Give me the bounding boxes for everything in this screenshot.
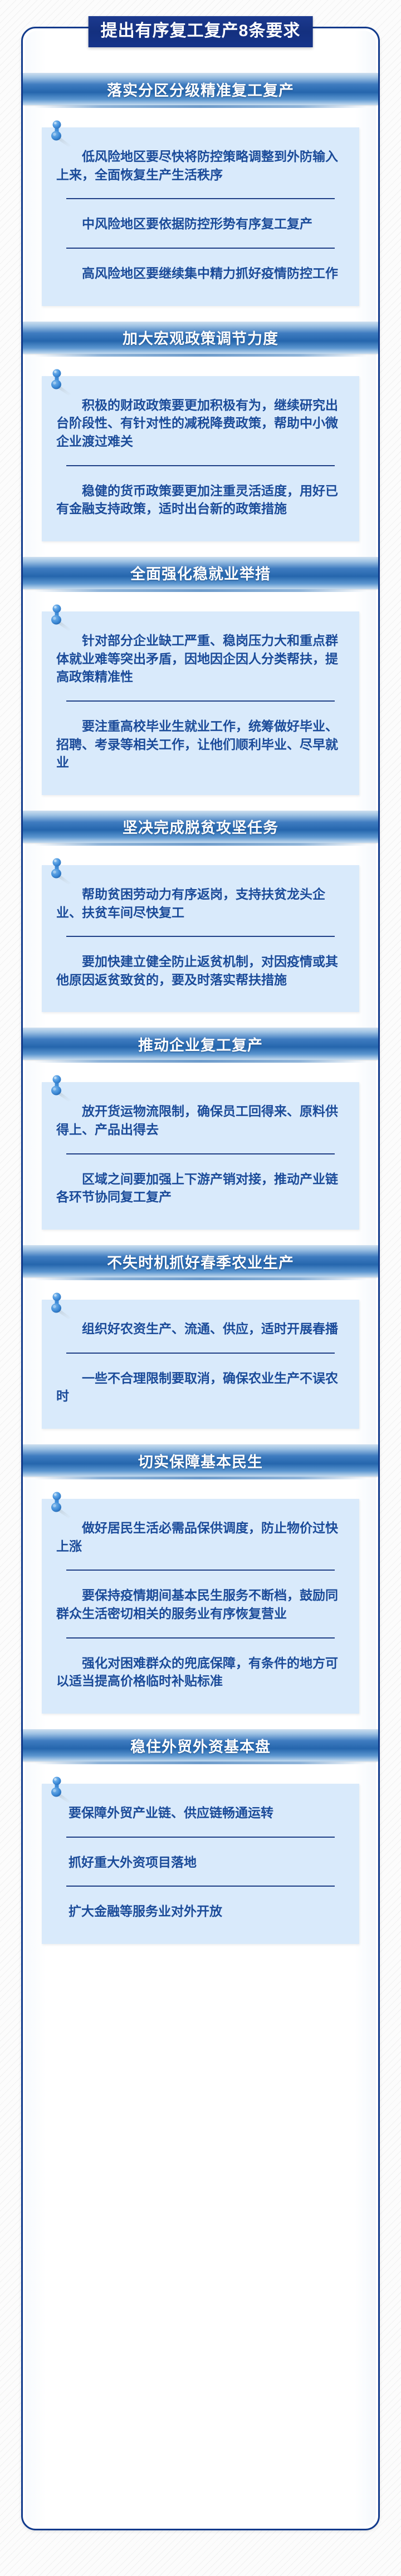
section-heading-text: 坚决完成脱贫攻坚任务 (123, 816, 278, 837)
list-item: 要加快建立健全防止返贫机制，对因疫情或其他原因返贫致贫的，要及时落实帮扶措施 (54, 949, 347, 993)
list-item: 要保障外贸产业链、供应链畅通运转 (54, 1800, 347, 1834)
section-body: 帮助贫困劳动力有序返岗，支持扶贫龙头企业、扶贫车间尽快复工要加快建立健全防止返贫… (42, 862, 359, 1013)
section-header-4: 坚决完成脱贫攻坚任务 (23, 811, 378, 843)
content-panel: 积极的财政政策要更加积极有为，继续研究出台阶段性、有针对性的减税降费政策，帮助中… (42, 376, 359, 541)
section-heading-text: 全面强化稳就业举措 (130, 562, 271, 584)
main-card: 提出有序复工复产8条要求 落实分区分级精准复工复产 (21, 27, 380, 2530)
section-header-1: 落实分区分级精准复工复产 (23, 73, 378, 105)
content-panel: 要保障外贸产业链、供应链畅通运转抓好重大外资项目落地扩大金融等服务业对外开放 (42, 1784, 359, 1944)
list-item: 做好居民生活必需品保供调度，防止物价过快上涨 (54, 1516, 347, 1567)
list-item: 中风险地区要依据防控形势有序复工复产 (54, 211, 347, 245)
item-divider (66, 465, 335, 466)
section-body: 放开货运物流限制，确保员工回得来、原料供得上、产品出得去区域之间要加强上下游产销… (42, 1079, 359, 1230)
list-item: 积极的财政政策要更加积极有为，继续研究出台阶段性、有针对性的减税降费政策，帮助中… (54, 393, 347, 463)
content-panel: 组织好农资生产、流通、供应，适时开展春播一些不合理限制要取消，确保农业生产不误农… (42, 1300, 359, 1429)
infographic-page: 提出有序复工复产8条要求 落实分区分级精准复工复产 (0, 0, 401, 2576)
item-divider (66, 1886, 335, 1887)
list-item: 要注重高校毕业生就业工作，统筹做好毕业、招聘、考录等相关工作，让他们顺利毕业、尽… (54, 714, 347, 776)
section-header-6: 不失时机抓好春季农业生产 (23, 1245, 378, 1277)
item-divider (66, 1637, 335, 1639)
list-item: 低风险地区要尽快将防控策略调整到外防输入上来，全面恢复生产生活秩序 (54, 144, 347, 196)
section-header-7: 切实保障基本民生 (23, 1444, 378, 1477)
section-body: 积极的财政政策要更加积极有为，继续研究出台阶段性、有针对性的减税降费政策，帮助中… (42, 373, 359, 541)
section-body: 针对部分企业缺工严重、稳岗压力大和重点群体就业难等突出矛盾，因地因企因人分类帮扶… (42, 608, 359, 795)
list-item: 抓好重大外资项目落地 (54, 1850, 347, 1884)
content-panel: 做好居民生活必需品保供调度，防止物价过快上涨要保持疫情期间基本民生服务不断档，鼓… (42, 1499, 359, 1714)
section-header-3: 全面强化稳就业举措 (23, 557, 378, 589)
section: 全面强化稳就业举措 (23, 557, 378, 795)
item-divider (66, 700, 335, 702)
section: 加大宏观政策调节力度 (23, 322, 378, 541)
content-panel: 放开货运物流限制，确保员工回得来、原料供得上、产品出得去区域之间要加强上下游产销… (42, 1082, 359, 1230)
item-divider (66, 1837, 335, 1838)
push-pin-icon (48, 1291, 74, 1321)
list-item: 高风险地区要继续集中精力抓好疫情防控工作 (54, 261, 347, 287)
push-pin-icon (48, 856, 74, 886)
section: 稳住外贸外资基本盘 (23, 1729, 378, 1944)
item-divider (66, 1353, 335, 1354)
section-header-8: 稳住外贸外资基本盘 (23, 1729, 378, 1761)
list-item: 稳健的货币政策要更加注重灵活适度，用好已有金融支持政策，适时出台新的政策措施 (54, 478, 347, 522)
push-pin-icon (48, 1490, 74, 1520)
section-body: 做好居民生活必需品保供调度，防止物价过快上涨要保持疫情期间基本民生服务不断档，鼓… (42, 1496, 359, 1714)
list-item: 针对部分企业缺工严重、稳岗压力大和重点群体就业难等突出矛盾，因地因企因人分类帮扶… (54, 628, 347, 698)
page-title: 提出有序复工复产8条要求 (89, 16, 313, 47)
section: 不失时机抓好春季农业生产 (23, 1245, 378, 1429)
section-heading-text: 稳住外贸外资基本盘 (130, 1735, 271, 1756)
list-item: 帮助贫困劳动力有序返岗，支持扶贫龙头企业、扶贫车间尽快复工 (54, 882, 347, 934)
item-divider (66, 248, 335, 249)
content-panel: 针对部分企业缺工严重、稳岗压力大和重点群体就业难等突出矛盾，因地因企因人分类帮扶… (42, 611, 359, 795)
section-body: 要保障外贸产业链、供应链畅通运转抓好重大外资项目落地扩大金融等服务业对外开放 (42, 1780, 359, 1944)
push-pin-icon (48, 367, 74, 397)
section-heading-text: 切实保障基本民生 (138, 1450, 263, 1472)
section-header-5: 推动企业复工复产 (23, 1028, 378, 1060)
section: 推动企业复工复产 (23, 1028, 378, 1230)
section-heading-text: 不失时机抓好春季农业生产 (107, 1251, 294, 1272)
content-panel: 低风险地区要尽快将防控策略调整到外防输入上来，全面恢复生产生活秩序中风险地区要依… (42, 127, 359, 306)
item-divider (66, 1153, 335, 1154)
list-item: 强化对困难群众的兜底保障，有条件的地方可以适当提高价格临时补贴标准 (54, 1651, 347, 1695)
item-divider (66, 1570, 335, 1571)
list-item: 组织好农资生产、流通、供应，适时开展春播 (54, 1316, 347, 1350)
push-pin-icon (48, 603, 74, 633)
section-heading-text: 落实分区分级精准复工复产 (107, 78, 294, 100)
section-body: 低风险地区要尽快将防控策略调整到外防输入上来，全面恢复生产生活秩序中风险地区要依… (42, 124, 359, 306)
list-item: 放开货运物流限制，确保员工回得来、原料供得上、产品出得去 (54, 1099, 347, 1151)
section-heading-text: 加大宏观政策调节力度 (123, 327, 278, 348)
section-heading-text: 推动企业复工复产 (138, 1033, 263, 1055)
list-item: 一些不合理限制要取消，确保农业生产不误农时 (54, 1366, 347, 1410)
list-item: 扩大金融等服务业对外开放 (54, 1899, 347, 1925)
section: 落实分区分级精准复工复产 (23, 73, 378, 306)
push-pin-icon (48, 1775, 74, 1805)
content-panel: 帮助贫困劳动力有序返岗，支持扶贫龙头企业、扶贫车间尽快复工要加快建立健全防止返贫… (42, 865, 359, 1013)
section: 坚决完成脱贫攻坚任务 (23, 811, 378, 1013)
section-header-2: 加大宏观政策调节力度 (23, 322, 378, 354)
item-divider (66, 936, 335, 937)
list-item: 区域之间要加强上下游产销对接，推动产业链各环节协同复工复产 (54, 1167, 347, 1211)
section-body: 组织好农资生产、流通、供应，适时开展春播一些不合理限制要取消，确保农业生产不误农… (42, 1296, 359, 1429)
section: 切实保障基本民生 (23, 1444, 378, 1714)
sections-container: 落实分区分级精准复工复产 (23, 73, 378, 1944)
item-divider (66, 198, 335, 199)
push-pin-icon (48, 1073, 74, 1103)
push-pin-icon (48, 119, 74, 149)
list-item: 要保持疫情期间基本民生服务不断档，鼓励同群众生活密切相关的服务业有序恢复营业 (54, 1583, 347, 1635)
